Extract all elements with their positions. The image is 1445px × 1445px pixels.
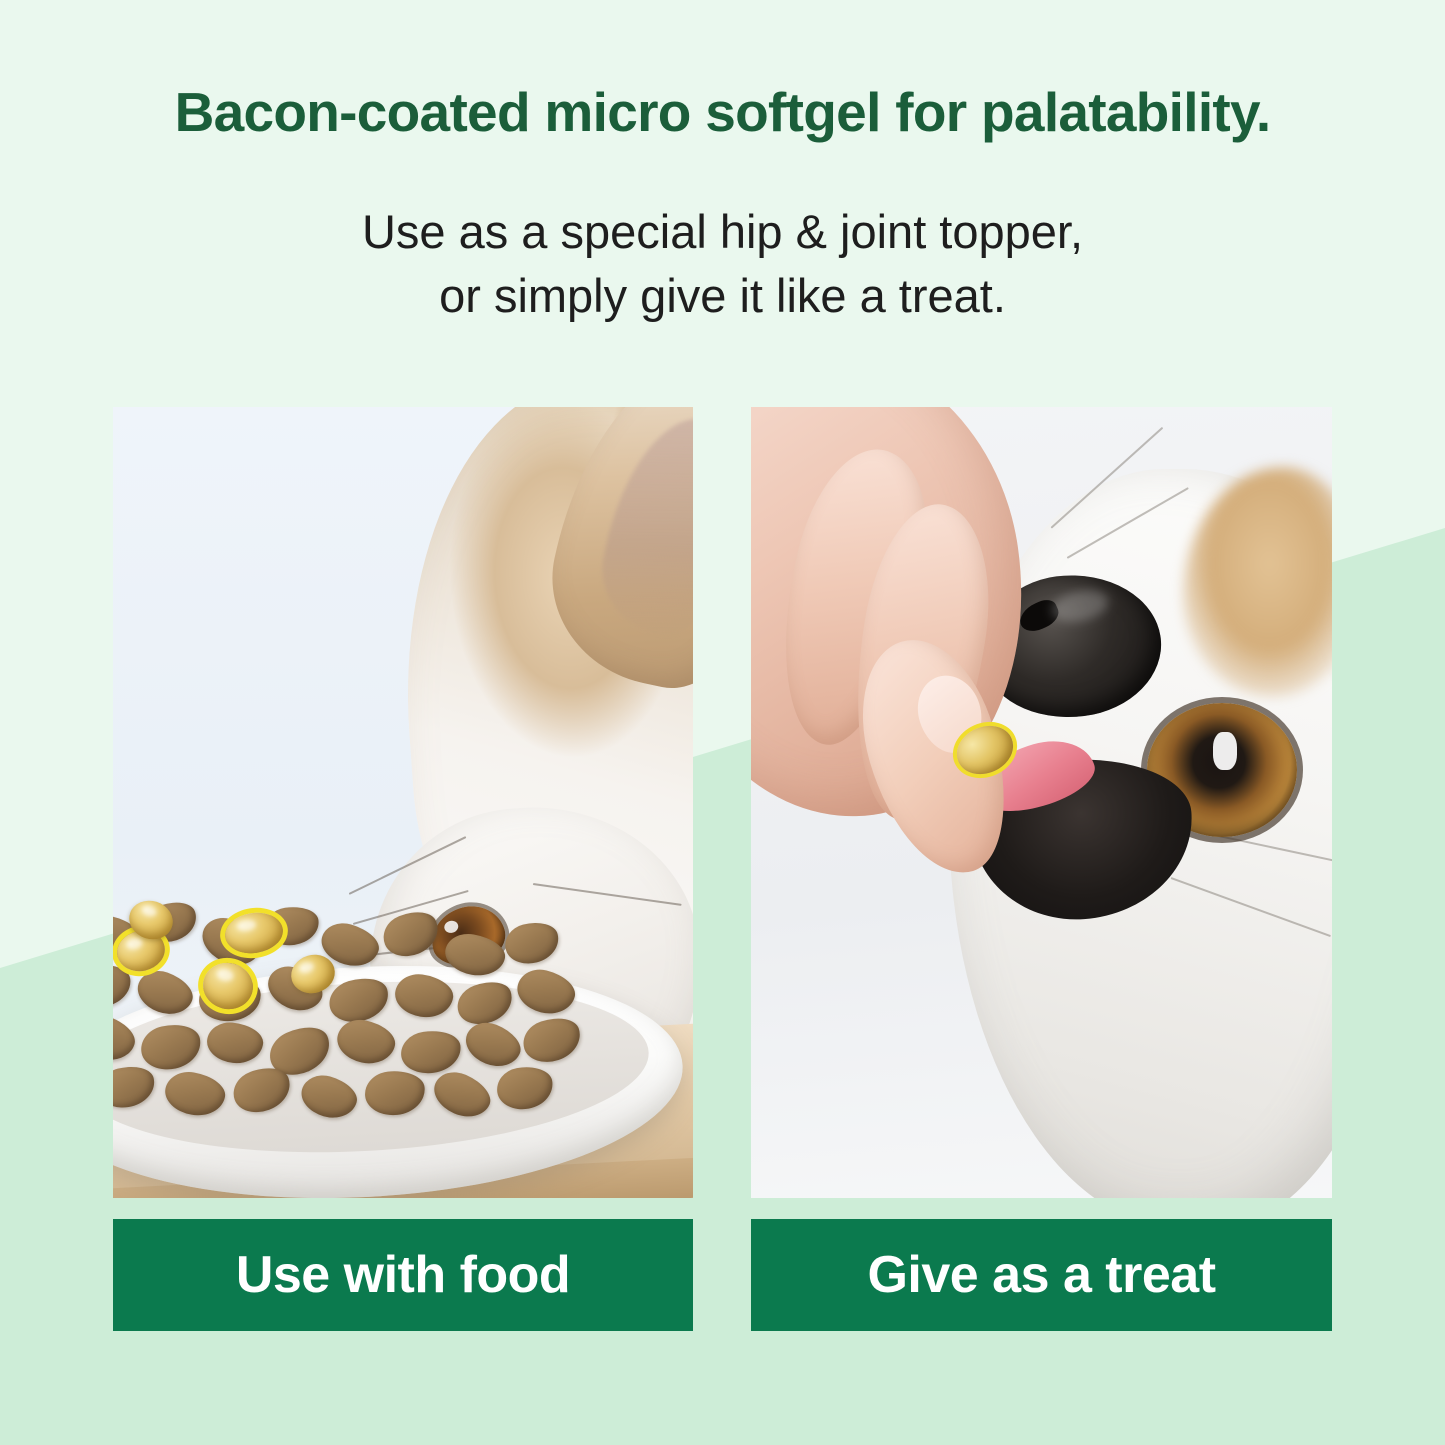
photo-panel-use-with-food — [113, 407, 693, 1198]
page-subtitle: Use as a special hip & joint topper, or … — [0, 200, 1445, 328]
caption-label: Use with food — [236, 1249, 570, 1301]
photo-panel-give-as-a-treat — [751, 407, 1332, 1198]
caption-bar-give-as-a-treat: Give as a treat — [751, 1219, 1332, 1331]
subtitle-line-2: or simply give it like a treat. — [0, 264, 1445, 328]
kibble-pile — [113, 877, 653, 1127]
caption-label: Give as a treat — [867, 1249, 1215, 1301]
infographic-page: Bacon-coated micro softgel for palatabil… — [0, 0, 1445, 1445]
caption-bar-use-with-food: Use with food — [113, 1219, 693, 1331]
subtitle-line-1: Use as a special hip & joint topper, — [0, 200, 1445, 264]
page-title: Bacon-coated micro softgel for palatabil… — [0, 82, 1445, 143]
